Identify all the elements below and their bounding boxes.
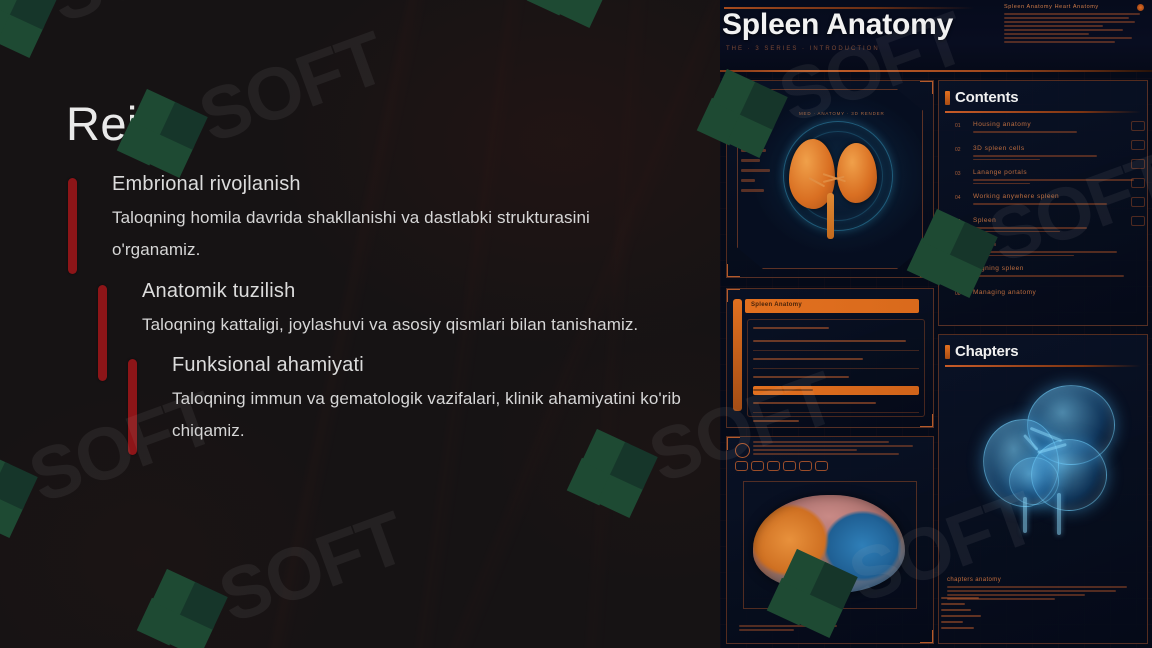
contents-item-label: Spleen [973, 241, 1141, 248]
list-item: Embrional rivojlanish Taloqning homila d… [0, 172, 700, 267]
target-circle-icon [735, 443, 750, 458]
slide-root: Reja Embrional rivojlanish Taloqning hom… [0, 0, 1152, 648]
chapters-visual [947, 375, 1139, 585]
chapters-heading: Chapters [955, 343, 1018, 360]
render-caption: MED · ANATOMY · 3D RENDER [799, 111, 885, 116]
header-note: Spleen Anatomy Heart Anatomy [1004, 4, 1146, 45]
reference-subline: THE · 3 SERIES · INTRODUCTION [726, 46, 880, 52]
organ-appendage [823, 585, 836, 613]
divider [753, 350, 919, 351]
page-title: Reja [66, 100, 164, 147]
contents-item[interactable]: 06 Spleen [947, 241, 1141, 265]
chapters-caption-block: chapters anatomy [947, 577, 1139, 635]
organ-cross-section-card [726, 436, 934, 644]
corner-marker [920, 80, 934, 94]
contents-item-number: 04 [955, 195, 961, 201]
hud-side-readout [741, 119, 771, 199]
list-row[interactable] [753, 417, 919, 426]
divider [753, 412, 919, 413]
list-item-heading: Embrional rivojlanish [112, 172, 700, 196]
contents-item-number: 08 [955, 291, 961, 297]
list-item-body: Taloqning immun va gematologik vazifalar… [172, 383, 700, 448]
list-row-selected[interactable] [753, 386, 919, 395]
chapters-caption: chapters anatomy [947, 577, 1139, 583]
contents-item[interactable]: 07 aligning spleen [947, 265, 1141, 289]
slide-content-panel: Reja Embrional rivojlanish Taloqning hom… [0, 0, 720, 648]
header-note-title: Spleen Anatomy Heart Anatomy [1004, 4, 1146, 10]
contents-item[interactable]: 08 Managing anatomy [947, 289, 1141, 313]
section-accent-bar [945, 91, 950, 105]
contents-item-number: 01 [955, 123, 961, 129]
list-item: Funksional ahamiyati Taloqning immun va … [0, 353, 700, 448]
organ-render-card: MED · ANATOMY · 3D RENDER [726, 80, 934, 278]
reference-title: Spleen Anatomy [722, 8, 953, 42]
contents-item-label: Working anywhere spleen [973, 193, 1141, 200]
section-rule [945, 365, 1141, 367]
list-item-body: Taloqning homila davrida shakllanishi va… [112, 202, 642, 267]
contents-item-label: Lanange portals [973, 169, 1141, 176]
list-title: Spleen Anatomy [751, 302, 802, 308]
list-row[interactable] [753, 399, 919, 408]
list-row[interactable] [753, 355, 919, 364]
accent-bar [68, 178, 77, 274]
list-row[interactable] [753, 337, 919, 346]
divider [753, 368, 919, 369]
duct-left [1023, 497, 1027, 533]
contents-heading: Contents [955, 89, 1018, 106]
contents-card: Contents 01 Housing anatomy 02 3D spleen… [938, 80, 1148, 326]
list-item: Anatomik tuzilish Taloqning kattaligi, j… [0, 279, 700, 341]
list-row[interactable] [753, 324, 919, 333]
control-pills[interactable] [735, 461, 828, 471]
contents-item[interactable]: 05 Spleen [947, 217, 1141, 241]
contents-item-label: 3D spleen cells [973, 145, 1141, 152]
organ-cross-section [753, 495, 905, 593]
contents-item-label: Managing anatomy [973, 289, 1141, 296]
contents-item-label: Spleen [973, 217, 1141, 224]
reference-image-panel: Spleen Anatomy THE · 3 SERIES · INTRODUC… [720, 0, 1152, 648]
data-list-card: Spleen Anatomy [726, 288, 934, 428]
organ-xray-illustration [983, 385, 1113, 535]
header-bottom-rule [720, 70, 1152, 72]
header-note-lines [1004, 13, 1146, 43]
contents-item-number: 05 [955, 219, 961, 225]
contents-item-number: 06 [955, 243, 961, 249]
contents-item-number: 03 [955, 171, 961, 177]
contents-item[interactable]: 02 3D spleen cells [947, 145, 1141, 169]
list-item-body: Taloqning kattaligi, joylashuvi va asosi… [142, 309, 672, 341]
list-item-heading: Funksional ahamiyati [172, 353, 700, 377]
list-rail [733, 299, 742, 411]
contents-side-rail [1131, 121, 1145, 319]
corner-marker [920, 630, 934, 644]
contents-item[interactable]: 01 Housing anatomy [947, 121, 1141, 145]
chapters-card: Chapters cha [938, 334, 1148, 644]
contents-item-number: 07 [955, 267, 961, 273]
list-item-heading: Anatomik tuzilish [142, 279, 700, 303]
contents-item[interactable]: 03 Lanange portals [947, 169, 1141, 193]
organ-lobe-inner [1009, 457, 1059, 505]
reference-header: Spleen Anatomy THE · 3 SERIES · INTRODUC… [720, 0, 1152, 72]
list-title-bar[interactable]: Spleen Anatomy [745, 299, 919, 313]
accent-bar [128, 359, 137, 455]
organ-duct [827, 193, 834, 239]
contents-item-label: aligning spleen [973, 265, 1141, 272]
contents-list: 01 Housing anatomy 02 3D spleen cells 03… [947, 121, 1141, 321]
contents-item-number: 02 [955, 147, 961, 153]
status-dot-icon [1137, 4, 1144, 11]
bullet-list: Embrional rivojlanish Taloqning homila d… [0, 172, 700, 459]
duct-right [1057, 493, 1061, 535]
contents-item-label: Housing anatomy [973, 121, 1141, 128]
corner-marker [920, 264, 934, 278]
corner-marker [726, 80, 740, 94]
section-accent-bar [945, 345, 950, 359]
corner-marker [726, 264, 740, 278]
list-row[interactable] [753, 373, 919, 382]
cross-section-readout [733, 441, 927, 469]
section-rule [945, 111, 1141, 113]
contents-item[interactable]: 04 Working anywhere spleen [947, 193, 1141, 217]
list-body [747, 319, 925, 417]
